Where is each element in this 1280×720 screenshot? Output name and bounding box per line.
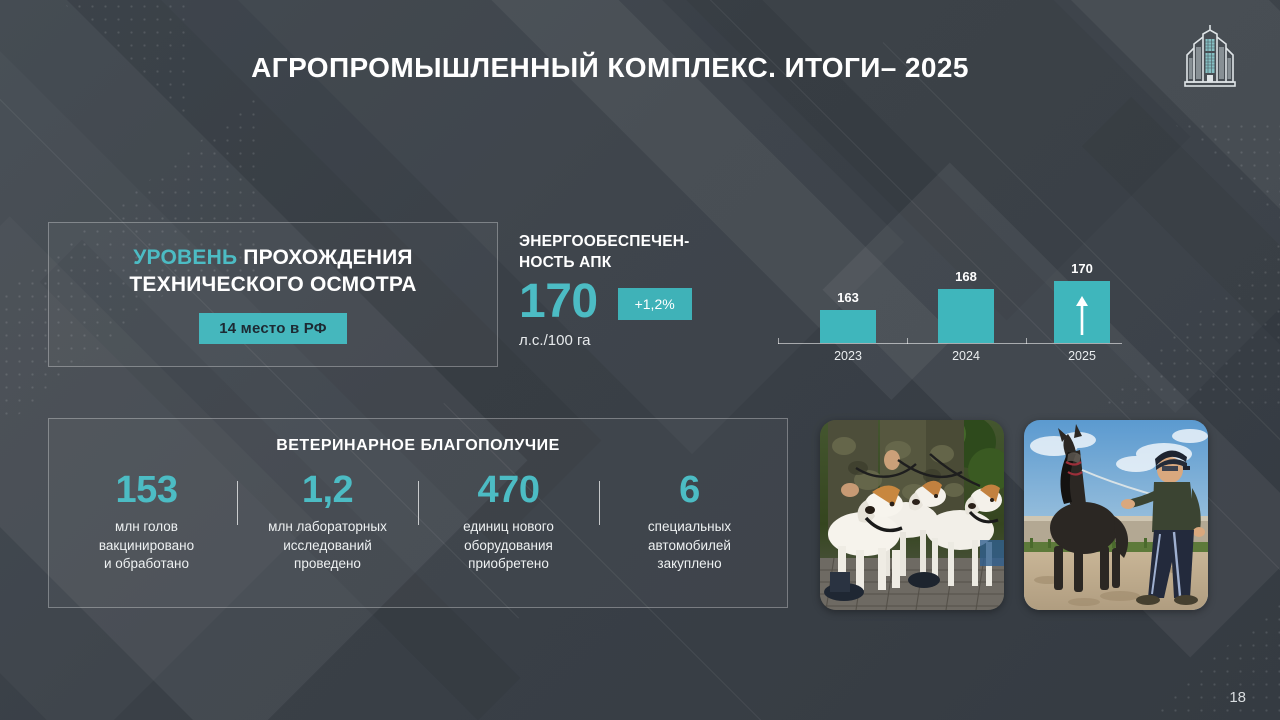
vet-stat-desc-line: автомобилей <box>648 538 731 553</box>
energy-label-line2: НОСТЬ АПК <box>519 254 611 271</box>
chart-bar <box>1054 281 1110 343</box>
vet-stat-desc-line: оборудования <box>464 538 553 553</box>
up-arrow-icon <box>1075 295 1089 335</box>
vet-card-header: ВЕТЕРИНАРНОЕ БЛАГОПОЛУЧИЕ <box>49 437 787 455</box>
chart-bar-group: 170 <box>1054 261 1110 343</box>
chart-bar-group: 168 <box>938 269 994 343</box>
chart-x-axis <box>778 343 1122 344</box>
chart-bar <box>938 289 994 343</box>
chart-bar <box>820 310 876 343</box>
vet-stat-item: 1,2 млн лабораторных исследований провед… <box>248 471 408 574</box>
vet-stat-desc-line: закуплено <box>657 556 721 571</box>
chart-category-label: 2023 <box>834 349 862 363</box>
energy-label-line1: ЭНЕРГООБЕСПЕЧЕН- <box>519 233 690 250</box>
photo-hunting-dogs <box>820 420 1004 610</box>
vet-stat-item: 470 единиц нового оборудования приобрете… <box>429 471 589 574</box>
energy-delta-badge: +1,2% <box>618 288 692 320</box>
chart-bar-label: 170 <box>1071 261 1093 276</box>
vet-stat-description: млн голов вакцинировано и обработано <box>67 518 227 574</box>
vet-stat-value: 153 <box>67 471 227 511</box>
chart-axis-tick <box>907 338 908 344</box>
page-number: 18 <box>1229 689 1246 706</box>
chart-category-labels: 2023 2024 2025 <box>778 349 1122 369</box>
technical-inspection-card: УРОВЕНЬ ПРОХОЖДЕНИЯ ТЕХНИЧЕСКОГО ОСМОТРА… <box>48 222 498 367</box>
tech-card-headline: УРОВЕНЬ ПРОХОЖДЕНИЯ ТЕХНИЧЕСКОГО ОСМОТРА <box>129 245 416 299</box>
vet-stat-desc-line: единиц нового <box>463 519 554 534</box>
vet-stat-item: 6 специальных автомобилей закуплено <box>610 471 770 574</box>
stat-divider <box>237 481 238 525</box>
vet-stat-desc-line: приобретено <box>468 556 549 571</box>
chart-category-label: 2024 <box>952 349 980 363</box>
vet-stat-value: 470 <box>429 471 589 511</box>
vet-stat-desc-line: млн лабораторных <box>268 519 387 534</box>
vet-stat-desc-line: млн голов <box>115 519 178 534</box>
tech-card-headline-rest: ПРОХОЖДЕНИЯ <box>237 246 412 269</box>
chart-bar-group: 163 <box>820 290 876 343</box>
vet-stat-value: 6 <box>610 471 770 511</box>
chart-bar-label: 168 <box>955 269 977 284</box>
vet-stat-desc-line: специальных <box>648 519 731 534</box>
tech-card-headline-accent: УРОВЕНЬ <box>133 246 237 269</box>
tech-card-headline-line2: ТЕХНИЧЕСКОГО ОСМОТРА <box>129 273 416 296</box>
energy-bar-chart: 163 168 170 2023 2024 2025 <box>778 252 1122 364</box>
vet-stat-desc-line: исследований <box>283 538 372 553</box>
energy-supply-block: ЭНЕРГООБЕСПЕЧЕН- НОСТЬ АПК 170 +1,2% л.с… <box>519 232 749 349</box>
vet-stat-desc-line: вакцинировано <box>99 538 194 553</box>
government-building-logo-icon <box>1176 20 1244 92</box>
energy-value-row: 170 +1,2% <box>519 278 749 326</box>
energy-unit: л.с./100 га <box>519 332 749 349</box>
chart-axis-tick <box>1026 338 1027 344</box>
energy-label: ЭНЕРГООБЕСПЕЧЕН- НОСТЬ АПК <box>519 232 749 274</box>
stat-divider <box>418 481 419 525</box>
chart-category-label: 2025 <box>1068 349 1096 363</box>
vet-stat-desc-line: и обработано <box>104 556 189 571</box>
slide: АГРОПРОМЫШЛЕННЫЙ КОМПЛЕКС. ИТОГИ– 2025 <box>0 0 1280 720</box>
veterinary-wellbeing-card: ВЕТЕРИНАРНОЕ БЛАГОПОЛУЧИЕ 153 млн голов … <box>48 418 788 608</box>
stat-divider <box>599 481 600 525</box>
chart-plot-area: 163 168 170 <box>778 252 1122 344</box>
vet-stat-value: 1,2 <box>248 471 408 511</box>
vet-stats-row: 153 млн голов вакцинировано и обработано… <box>49 471 787 574</box>
energy-value: 170 <box>519 278 598 326</box>
vet-stat-description: единиц нового оборудования приобретено <box>429 518 589 574</box>
rank-badge: 14 место в РФ <box>199 313 347 344</box>
page-title: АГРОПРОМЫШЛЕННЫЙ КОМПЛЕКС. ИТОГИ– 2025 <box>0 52 1280 84</box>
photo-horse-handler <box>1024 420 1208 610</box>
vet-stat-description: специальных автомобилей закуплено <box>610 518 770 574</box>
vet-stat-item: 153 млн голов вакцинировано и обработано <box>67 471 227 574</box>
vet-stat-description: млн лабораторных исследований проведено <box>248 518 408 574</box>
chart-axis-tick <box>778 338 779 344</box>
chart-bar-label: 163 <box>837 290 859 305</box>
vet-stat-desc-line: проведено <box>294 556 361 571</box>
